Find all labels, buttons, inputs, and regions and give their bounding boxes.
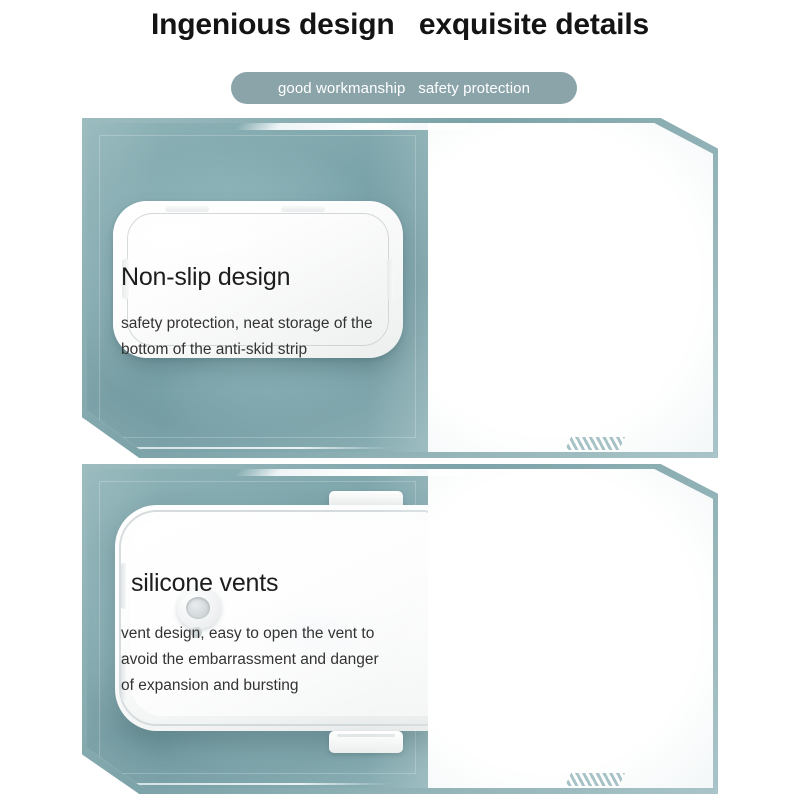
panel-content: silicone vents vent design, easy to open… bbox=[87, 469, 713, 788]
lid-top-nub-left bbox=[165, 206, 209, 212]
feature-description: safety protection, neat storage of the b… bbox=[121, 311, 389, 363]
feature-panel-silicone-vents: silicone vents vent design, easy to open… bbox=[82, 464, 718, 794]
subtitle-pill: good workmanship safety protection bbox=[231, 72, 577, 104]
header: Ingenious design exquisite details good … bbox=[0, 0, 800, 112]
feature-title: silicone vents bbox=[131, 569, 278, 598]
feature-panel-non-slip-design: Non-slip design safety protection, neat … bbox=[82, 118, 718, 458]
hatch-stripes-decoration bbox=[565, 437, 625, 450]
feature-description: vent design, easy to open the vent to av… bbox=[121, 621, 389, 699]
frame-top-highlight bbox=[234, 123, 470, 130]
lid-side-tab-upper bbox=[121, 563, 126, 609]
latch-clip-bottom bbox=[329, 731, 403, 753]
lid-top-nub-right bbox=[281, 206, 325, 212]
page-title: Ingenious design exquisite details bbox=[0, 8, 800, 42]
latch-clip-top bbox=[329, 491, 403, 513]
lid-gloss-highlight bbox=[133, 217, 283, 265]
panel-content: Non-slip design safety protection, neat … bbox=[87, 123, 713, 452]
lid-side-tab-right bbox=[387, 259, 394, 299]
frame-top-highlight bbox=[234, 469, 470, 476]
panel-text-area bbox=[428, 469, 713, 788]
feature-title: Non-slip design bbox=[121, 263, 290, 292]
vent-hole bbox=[186, 597, 210, 619]
panel-text-area bbox=[428, 123, 713, 452]
product-feature-banner: Ingenious design exquisite details good … bbox=[0, 0, 800, 800]
subtitle-text: good workmanship safety protection bbox=[278, 80, 530, 97]
hatch-stripes-decoration bbox=[565, 773, 625, 786]
